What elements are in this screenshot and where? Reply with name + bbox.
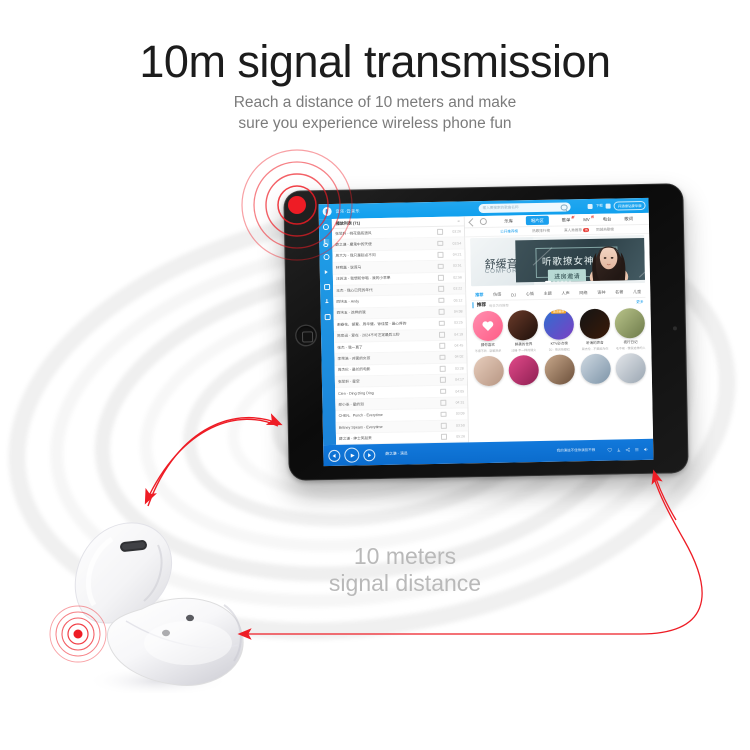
nav-tab[interactable]: 电台 bbox=[603, 215, 612, 223]
sidebar-item-radio[interactable] bbox=[323, 269, 329, 275]
tablet-device: 音乐·云音乐 输入要搜索的歌曲名称 下载 开通绿钻豪华版 bbox=[283, 183, 688, 481]
song-duration: 03:28 bbox=[451, 366, 464, 370]
album-subtitle: 汪峰·不一样的烟火 bbox=[511, 348, 536, 352]
album-title: 猜你喜欢 bbox=[481, 343, 495, 348]
song-action-icon[interactable] bbox=[437, 229, 443, 235]
category-chip[interactable]: 儿童 bbox=[633, 289, 641, 295]
song-duration: 03:09 bbox=[452, 412, 465, 416]
subtitle-line-1: Reach a distance of 10 meters and make bbox=[0, 92, 750, 113]
album-thumbnail[interactable]: 置顶推荐 bbox=[544, 309, 575, 340]
song-title: 郑小圣 - 星的泪 bbox=[338, 400, 440, 407]
banner-model-photo bbox=[578, 238, 639, 281]
song-title: Cien - Ding Ding Ding bbox=[338, 390, 440, 396]
song-title: 谢春花、胡夏、周华健、徐佳莹 - 最心疼的 bbox=[337, 321, 439, 328]
distance-label: 10 meters signal distance bbox=[275, 543, 535, 596]
banner-dot[interactable] bbox=[565, 280, 567, 282]
song-action-icon[interactable] bbox=[439, 320, 445, 326]
subtitle-line-2: sure you experience wireless phone fun bbox=[0, 113, 750, 134]
album-subtitle: DJ · 夜店热歌红 bbox=[549, 347, 570, 351]
share-icon[interactable] bbox=[625, 447, 630, 452]
song-duration: 03:51 bbox=[449, 264, 462, 268]
song-action-icon[interactable] bbox=[439, 332, 445, 338]
volume-icon[interactable] bbox=[643, 447, 648, 452]
song-action-icon[interactable] bbox=[439, 286, 445, 292]
song-action-icon[interactable] bbox=[440, 389, 446, 395]
nav-tab-badge: 新 bbox=[571, 215, 574, 219]
section-more-link[interactable]: 更多 bbox=[636, 300, 643, 305]
song-action-icon[interactable] bbox=[439, 309, 445, 315]
album-cell[interactable]: 醉美的世界汪峰·不一样的烟火 bbox=[507, 310, 539, 352]
song-title: 陈奕迅 - 爱在 · 2024不可注定最后三秒 bbox=[337, 332, 439, 339]
song-title: 周杰伦 - 最长的电影 bbox=[338, 366, 440, 373]
album-thumbnail[interactable] bbox=[509, 355, 540, 386]
song-duration: 05:26 bbox=[452, 435, 465, 439]
app-logo-icon bbox=[323, 207, 332, 216]
album-cell[interactable]: 置顶推荐KTV必点榜DJ · 夜店热歌红 bbox=[543, 309, 575, 351]
wireless-earbud bbox=[38, 493, 268, 693]
download-icon[interactable] bbox=[616, 447, 621, 452]
distance-line-2: signal distance bbox=[275, 570, 535, 597]
category-chip[interactable]: 名著 bbox=[615, 289, 623, 295]
album-cell[interactable]: 听海的声音周杰伦 · 不是因为你 bbox=[579, 309, 611, 351]
app-logo-icon[interactable] bbox=[322, 224, 328, 230]
album-thumbnail[interactable] bbox=[615, 308, 646, 339]
back-arrow-icon[interactable] bbox=[469, 218, 477, 226]
song-duration: 04:05 bbox=[451, 389, 464, 393]
playlist-panel[interactable]: 播放列表 (71) ≡ 张菲轩 - 桃花扇底遗风03:26薛之谦 - 魔鬼中的天… bbox=[332, 216, 469, 445]
promo-banner[interactable]: 舒缓音乐 COMFORT 听歌撩女神 进房邀请 bbox=[470, 235, 645, 286]
front-camera-icon bbox=[673, 326, 677, 330]
banner-dot[interactable] bbox=[569, 280, 571, 282]
vip-upgrade-button[interactable]: 开通绿钻豪华版 bbox=[614, 201, 646, 211]
album-thumbnail[interactable] bbox=[544, 354, 575, 385]
search-placeholder: 输入要搜索的歌曲名称 bbox=[483, 205, 519, 211]
song-list[interactable]: 张菲轩 - 桃花扇底遗风03:26薛之谦 - 魔鬼中的天使03:54周大为 - … bbox=[332, 226, 469, 444]
song-title: 汪苏泷 - 我想和你唱 · 我的小苹果 bbox=[336, 275, 438, 282]
tablet-screen: 音乐·云音乐 输入要搜索的歌曲名称 下载 开通绿钻豪华版 bbox=[319, 198, 654, 466]
song-title: 薛之谦 - 魔鬼中的天使 bbox=[335, 241, 437, 248]
album-row: 猜你喜欢不得不听 · 新歌热单醉美的世界汪峰·不一样的烟火置顶推荐KTV必点榜D… bbox=[472, 308, 647, 353]
category-chip[interactable]: 伤感 bbox=[493, 292, 501, 298]
banner-main: 听歌撩女神 进房邀请 bbox=[515, 238, 645, 282]
banner-dot[interactable] bbox=[557, 281, 559, 283]
category-chip[interactable]: 心情 bbox=[526, 291, 534, 297]
category-chip[interactable]: 推荐 bbox=[475, 292, 483, 298]
song-duration: 05:12 bbox=[449, 298, 462, 302]
nav-tab[interactable]: 歌词 bbox=[624, 215, 633, 223]
player-track-title: 薛之谦 - 演员 bbox=[385, 452, 407, 457]
page-title: 10m signal transmission bbox=[0, 38, 750, 85]
play-button[interactable] bbox=[344, 447, 359, 462]
category-chip[interactable]: DJ bbox=[511, 292, 516, 297]
song-title: 四块五 - Andy bbox=[336, 298, 438, 305]
song-action-icon[interactable] bbox=[440, 366, 446, 372]
song-action-icon[interactable] bbox=[440, 343, 446, 349]
album-cell[interactable]: 夜行日记毛不易 · 像我这样的人 bbox=[614, 308, 646, 350]
song-action-icon[interactable] bbox=[438, 252, 444, 258]
search-icon bbox=[561, 205, 567, 211]
song-title: CHEN、Punch - Everytime bbox=[339, 412, 441, 419]
banner-dot[interactable] bbox=[545, 281, 551, 283]
song-action-icon[interactable] bbox=[440, 377, 446, 383]
song-duration: 03:50 bbox=[452, 423, 465, 427]
banner-dot[interactable] bbox=[553, 281, 555, 283]
nav-tab[interactable]: 唱片区 bbox=[526, 216, 549, 225]
distance-line-1: 10 meters bbox=[275, 543, 535, 570]
user-avatar-icon[interactable] bbox=[606, 204, 611, 209]
album-title: 醉美的世界 bbox=[515, 342, 533, 347]
section-header: 推荐 每日为你推荐 bbox=[472, 302, 508, 309]
song-title: 薛之谦 - 绅士笑起来 bbox=[339, 435, 441, 442]
album-row bbox=[472, 353, 647, 386]
song-duration: 04:45 bbox=[450, 344, 463, 348]
song-title: 张杰 - 我一直了 bbox=[337, 343, 439, 350]
album-cell[interactable] bbox=[544, 354, 576, 385]
banner-dot[interactable] bbox=[561, 281, 563, 283]
song-action-icon[interactable] bbox=[440, 354, 446, 360]
song-action-icon[interactable] bbox=[438, 263, 444, 269]
sidebar-item-download[interactable] bbox=[324, 299, 330, 305]
song-title: 王杰 - 我心已死的年代 bbox=[336, 287, 438, 294]
album-thumbnail[interactable] bbox=[473, 355, 504, 386]
song-title: 四块五 - 这样的我 bbox=[337, 309, 439, 316]
album-cell[interactable]: 猜你喜欢不得不听 · 新歌热单 bbox=[472, 311, 504, 353]
song-title: Britney Spears - Everytime bbox=[339, 424, 441, 430]
song-title: 周大为 - 我只是起点不同 bbox=[335, 252, 437, 259]
album-thumbnail[interactable] bbox=[472, 311, 503, 342]
category-chip[interactable]: 主题 bbox=[544, 291, 552, 297]
album-thumbnail[interactable] bbox=[616, 353, 647, 384]
album-thumbnail[interactable] bbox=[579, 309, 610, 340]
nav-tab[interactable]: MV热 bbox=[583, 216, 590, 223]
home-circle-icon[interactable] bbox=[479, 218, 486, 225]
song-action-icon[interactable] bbox=[441, 434, 447, 440]
category-chip[interactable]: 网络 bbox=[579, 290, 587, 296]
sidebar-item-device[interactable] bbox=[324, 284, 330, 290]
song-duration: 04:31 bbox=[451, 400, 464, 404]
song-duration: 04:08 bbox=[450, 309, 463, 313]
download-icon[interactable] bbox=[588, 204, 593, 209]
album-title: KTV必点榜 bbox=[551, 341, 568, 346]
song-action-icon[interactable] bbox=[441, 400, 447, 406]
song-duration: 02:56 bbox=[449, 275, 462, 279]
page-subtitle: Reach a distance of 10 meters and make s… bbox=[0, 92, 750, 135]
album-cell[interactable] bbox=[579, 353, 611, 384]
download-label: 下载 bbox=[596, 204, 603, 209]
app-title: 音乐·云音乐 bbox=[336, 208, 360, 214]
sidebar-item-cloud[interactable] bbox=[323, 254, 329, 260]
album-subtitle: 毛不易 · 像我这样的人 bbox=[616, 346, 646, 351]
album-cell[interactable] bbox=[615, 353, 647, 384]
sidebar-item-grid[interactable] bbox=[324, 314, 330, 320]
section-title: 推荐 bbox=[477, 302, 486, 308]
song-title: 李荣浩 - 对面的女孩 bbox=[337, 355, 439, 362]
playlist-title: 播放列表 (71) bbox=[336, 220, 360, 226]
favorite-icon[interactable] bbox=[607, 448, 612, 453]
player-lyric: 我的演技不佳你演技不假 bbox=[557, 448, 596, 454]
song-duration: 04:02 bbox=[450, 355, 463, 359]
sub-nav-item[interactable]: 真人秀推荐热 bbox=[564, 228, 582, 233]
song-action-icon[interactable] bbox=[441, 411, 447, 417]
top-bar-actions: 下载 开通绿钻豪华版 bbox=[588, 201, 646, 211]
sidebar-item-music[interactable] bbox=[323, 239, 329, 245]
album-title: 听海的声音 bbox=[586, 341, 604, 346]
sub-nav-item[interactable]: 热歌排行榜 bbox=[532, 228, 550, 233]
song-action-icon[interactable] bbox=[439, 298, 445, 304]
song-duration: 03:25 bbox=[450, 321, 463, 325]
category-chip[interactable]: 语种 bbox=[597, 290, 605, 296]
song-duration: 03:26 bbox=[448, 230, 461, 234]
sub-nav-item[interactable]: 公开推荐榜 bbox=[500, 229, 518, 234]
category-chips[interactable]: 推荐伤感DJ心情主题人声网络语种名著儿童 bbox=[471, 287, 645, 301]
song-title: 张菲轩 - 桃花扇底遗风 bbox=[335, 230, 437, 237]
nav-tab-badge: 热 bbox=[591, 215, 594, 219]
list-icon[interactable] bbox=[634, 447, 639, 452]
prev-button[interactable] bbox=[328, 449, 340, 461]
album-cell[interactable] bbox=[472, 355, 504, 386]
song-action-icon[interactable] bbox=[438, 241, 444, 247]
song-duration: 04:19 bbox=[450, 332, 463, 336]
banner-dots[interactable] bbox=[545, 280, 571, 282]
content-panel: 乐库唱片区歌单新MV热电台歌词 公开推荐榜热歌排行榜真人秀推荐热同城热歌榜 舒缓… bbox=[465, 213, 653, 442]
song-duration: 04:17 bbox=[451, 378, 464, 382]
heart-icon bbox=[481, 320, 493, 331]
hot-badge: 热 bbox=[583, 228, 589, 232]
album-title: 夜行日记 bbox=[624, 340, 638, 345]
song-duration: 03:22 bbox=[449, 287, 462, 291]
album-thumbnail[interactable] bbox=[508, 310, 539, 341]
song-duration: 04:21 bbox=[448, 252, 461, 256]
song-title: 林宥嘉 - 说谎马 bbox=[336, 264, 438, 271]
album-badge: 置顶推荐 bbox=[551, 309, 566, 313]
sub-nav-item[interactable]: 同城热歌榜 bbox=[596, 227, 614, 232]
album-subtitle: 周杰伦 · 不是因为你 bbox=[582, 346, 609, 351]
song-duration: 03:54 bbox=[448, 241, 461, 245]
album-cell[interactable] bbox=[508, 355, 540, 386]
section-subtitle: 每日为你推荐 bbox=[489, 302, 509, 307]
category-chip[interactable]: 人声 bbox=[561, 290, 569, 296]
nav-tab[interactable]: 歌单新 bbox=[562, 216, 571, 224]
next-button[interactable] bbox=[363, 449, 375, 461]
song-action-icon[interactable] bbox=[438, 275, 444, 281]
nav-tab[interactable]: 乐库 bbox=[504, 217, 513, 225]
playlist-menu-icon[interactable]: ≡ bbox=[457, 218, 459, 223]
album-subtitle: 不得不听 · 新歌热单 bbox=[475, 348, 502, 353]
nav-tabs[interactable]: 乐库唱片区歌单新MV热电台歌词 bbox=[504, 214, 633, 225]
song-title: 张菲轩 - 星空 bbox=[338, 378, 440, 385]
album-grid[interactable]: 猜你喜欢不得不听 · 新歌热单醉美的世界汪峰·不一样的烟火置顶推荐KTV必点榜D… bbox=[472, 308, 648, 442]
nav-arrows bbox=[470, 218, 487, 225]
song-action-icon[interactable] bbox=[441, 423, 447, 429]
search-input[interactable]: 输入要搜索的歌曲名称 bbox=[479, 202, 571, 213]
album-thumbnail[interactable] bbox=[580, 353, 611, 384]
